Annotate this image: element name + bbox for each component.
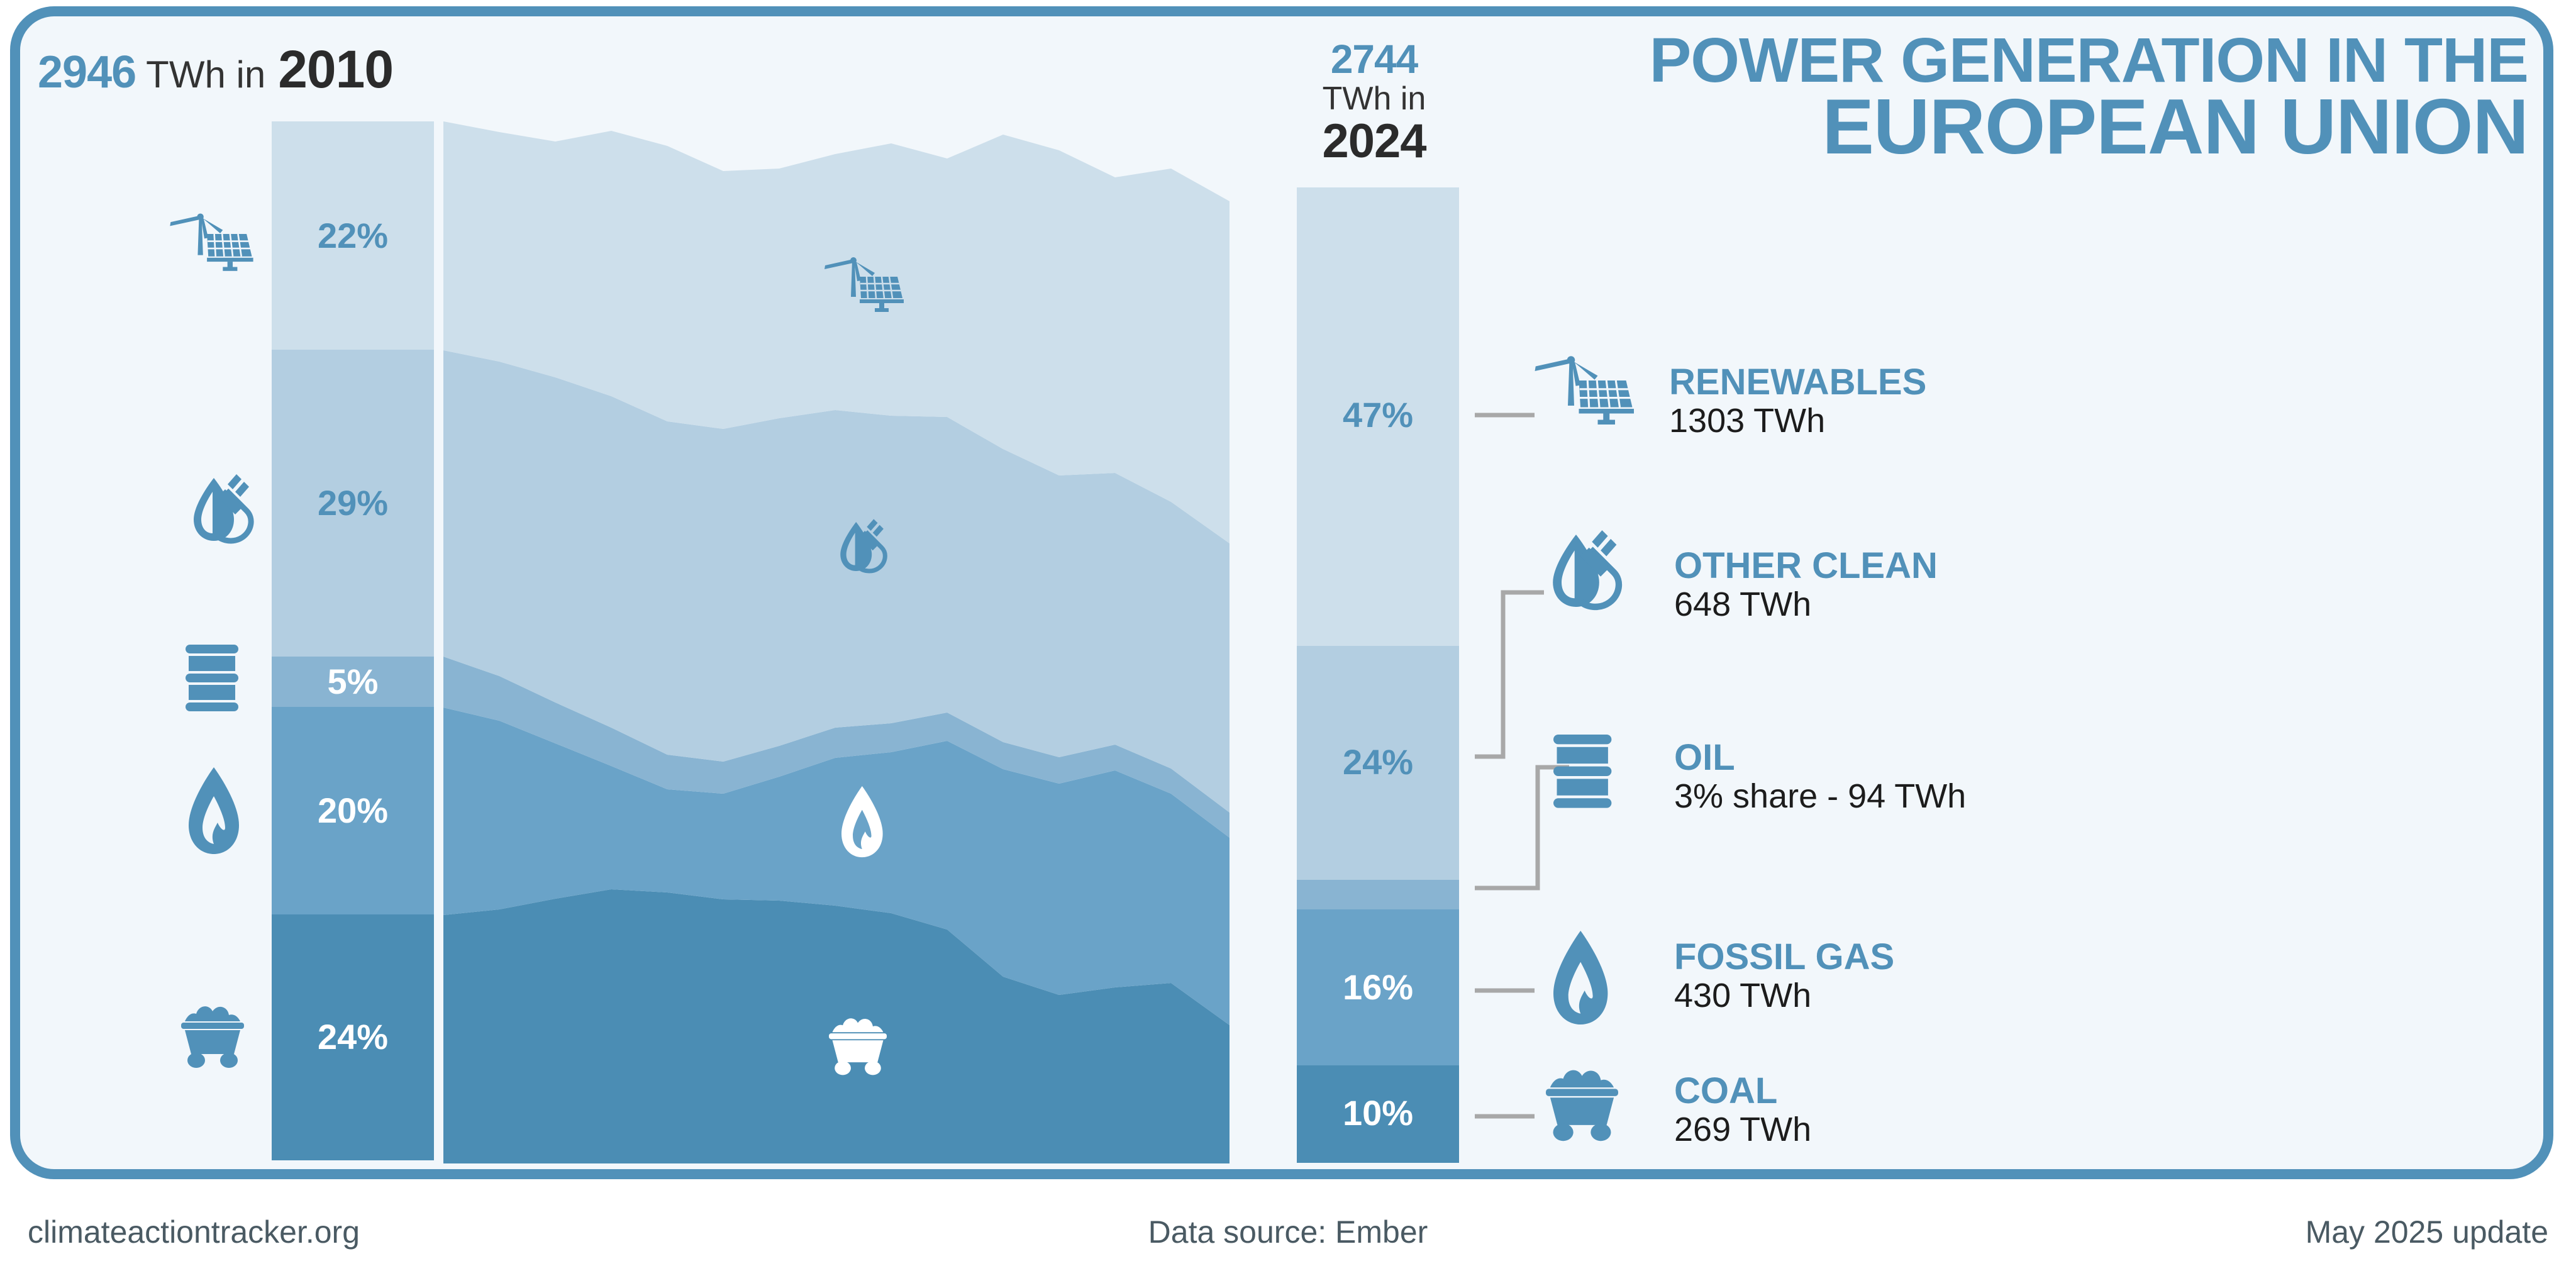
bar-2010-label-other-clean: 29% [272,486,434,521]
legend-oil-barrel-icon [1553,735,1611,808]
footer-update-date: May 2025 update [2306,1214,2548,1250]
legend-value-oil: 3% share - 94 TWh [1674,778,1966,815]
legend-name-oil: OIL [1674,739,1966,777]
bar-2024-label-renewables: 47% [1297,397,1459,433]
legend-value-other-clean: 648 TWh [1674,586,1938,623]
bar-2010 [272,121,434,1160]
bar-2024 [1297,187,1459,1163]
footer-data-source: Data source: Ember [0,1214,2576,1250]
legend-item-oil[interactable]: OIL 3% share - 94 TWh [1665,739,1966,816]
legend-value-coal: 269 TWh [1674,1111,1811,1148]
legend-text-fossil-gas: FOSSIL GAS 430 TWh [1674,938,1894,1015]
legend-text-other-clean: OTHER CLEAN 648 TWh [1674,547,1938,624]
legend-item-fossil-gas[interactable]: FOSSIL GAS 430 TWh [1665,938,1894,1015]
leader-lines [1475,415,1569,1116]
legend-item-coal[interactable]: COAL 269 TWh [1665,1072,1811,1149]
legend-name-other-clean: OTHER CLEAN [1674,547,1938,585]
oil-barrel-icon [186,645,238,711]
coal-cart-icon [181,1006,244,1068]
infographic-root: 2946TWh in2010 2744 TWh in 2024 POWER GE… [0,0,2576,1288]
bar-2024-oil [1297,880,1459,909]
legend-text-renewables: RENEWABLES 1303 TWh [1669,364,1926,440]
chart-area [0,0,2576,1288]
clean-plug-icon [194,474,251,541]
bar-2010-label-coal: 24% [272,1019,434,1055]
bar-2024-label-coal: 10% [1297,1096,1459,1131]
legend-name-fossil-gas: FOSSIL GAS [1674,938,1894,976]
bar-2024-label-other-clean: 24% [1297,745,1459,780]
legend-name-coal: COAL [1674,1072,1811,1110]
legend-gas-flame-icon [1553,931,1607,1024]
bar-2010-label-oil: 5% [272,664,434,699]
left-icon-column [170,213,253,1068]
legend-coal-cart-icon [1546,1070,1618,1141]
legend-clean-plug-icon [1553,530,1619,607]
wind-solar-icon [170,213,253,270]
bar-2010-label-fossil-gas: 20% [272,793,434,828]
gas-flame-icon [189,767,239,854]
footer: climateactiontracker.org Data source: Em… [0,1201,2576,1277]
legend-name-renewables: RENEWABLES [1669,364,1926,401]
bar-2010-label-renewables: 22% [272,218,434,253]
legend-value-renewables: 1303 TWh [1669,402,1926,440]
bar-2024-label-fossil-gas: 16% [1297,970,1459,1005]
legend-value-fossil-gas: 430 TWh [1674,977,1894,1014]
legend-item-other-clean[interactable]: OTHER CLEAN 648 TWh [1665,547,1938,624]
legend-icons [1535,356,1635,1141]
leader-line-other-clean [1475,592,1544,757]
legend-wind-solar-icon [1535,356,1635,425]
legend-text-oil: OIL 3% share - 94 TWh [1674,739,1966,816]
legend-text-coal: COAL 269 TWh [1674,1072,1811,1149]
stream-bands [443,121,1230,1163]
legend-item-renewables[interactable]: RENEWABLES 1303 TWh [1660,364,1926,440]
stacked-area-chart [0,0,2576,1288]
leader-line-oil [1475,767,1569,888]
